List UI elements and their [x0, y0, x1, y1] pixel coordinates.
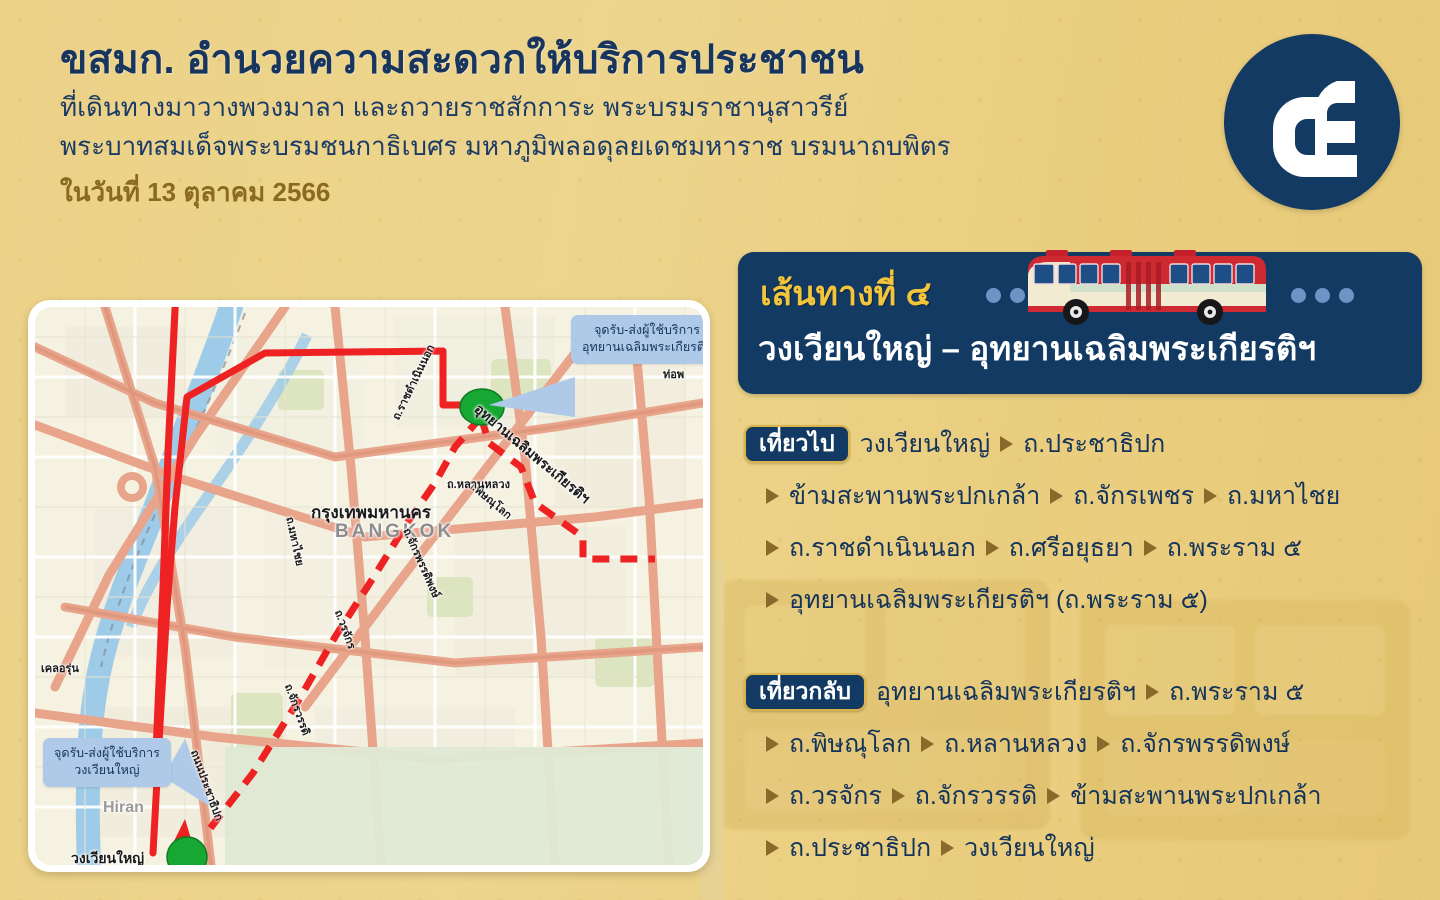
route-number: เส้นทางที่ ๔ — [760, 266, 931, 320]
map-label-wongwianyai: วงเวียนใหญ่ — [71, 848, 144, 865]
route-name: วงเวียนใหญ่ – อุทยานเฉลิมพระเกียรติฯ — [758, 322, 1406, 375]
arrow-icon — [986, 540, 999, 556]
callout-park-line1: จุดรับ-ส่งผู้ใช้บริการ — [582, 322, 703, 339]
arrow-icon — [1204, 488, 1217, 504]
outbound-stop-1: ถ.ประชาธิปก — [1023, 424, 1165, 464]
inbound-route-block: เที่ยวกลับ อุทยานเฉลิมพระเกียรติฯ ถ.พระร… — [744, 672, 1440, 880]
header-subtitle-1: ที่เดินทางมาวางพวงมาลา และถวายราชสักการะ… — [60, 89, 1180, 127]
arrow-icon — [1146, 684, 1159, 700]
dot — [1315, 288, 1330, 303]
inbound-stop-6: ถ.จักรวรรดิ — [915, 776, 1037, 816]
page-title: ขสมก. อำนวยความสะดวกให้บริการประชาชน — [60, 38, 1180, 83]
arrow-icon — [766, 592, 779, 608]
inbound-stop-4: ถ.จักรพรรดิพงษ์ — [1120, 724, 1290, 764]
bmta-logo-glyph-icon — [1253, 63, 1371, 181]
arrow-icon — [766, 540, 779, 556]
outbound-line-4: อุทยานเฉลิมพระเกียรติฯ (ถ.พระราม ๕) — [744, 580, 1440, 620]
inbound-stop-9: วงเวียนใหญ่ — [964, 828, 1095, 868]
outbound-route-block: เที่ยวไป วงเวียนใหญ่ ถ.ประชาธิปก ข้ามสะพ… — [744, 424, 1440, 632]
inbound-line-4: ถ.ประชาธิปก วงเวียนใหญ่ — [744, 828, 1440, 868]
header-subtitle-2: พระบาทสมเด็จพระบรมชนกาธิเบศร มหาภูมิพลอด… — [60, 128, 1180, 166]
arrow-icon — [766, 788, 779, 804]
inbound-badge: เที่ยวกลับ — [744, 673, 866, 711]
map-label-city-en: BANGKOK — [335, 521, 454, 543]
arrow-icon — [1047, 788, 1060, 804]
arrow-icon — [1050, 488, 1063, 504]
callout-wong-line2: วงเวียนใหญ่ — [54, 762, 160, 779]
arrow-icon — [941, 840, 954, 856]
arrow-icon — [1097, 736, 1110, 752]
inbound-line-1: เที่ยวกลับ อุทยานเฉลิมพระเกียรติฯ ถ.พระร… — [744, 672, 1440, 712]
outbound-stop-3: ถ.จักรเพชร — [1073, 476, 1194, 516]
map-label-thonburi: เคลอรุ่น — [41, 659, 79, 677]
outbound-stop-7: ถ.พระราม ๕ — [1167, 528, 1302, 568]
inbound-line-2: ถ.พิษณุโลก ถ.หลานหลวง ถ.จักรพรรดิพงษ์ — [744, 724, 1440, 764]
dot — [1339, 288, 1354, 303]
header-date: ในวันที่ 13 ตุลาคม 2566 — [60, 172, 1180, 213]
callout-park-stop: จุดรับ-ส่งผู้ใช้บริการ อุทยานเฉลิมพระเกี… — [571, 315, 703, 364]
arrow-icon — [766, 488, 779, 504]
route-map[interactable]: กรุงเทพมหานคร BANGKOK วงเวียนใหญ่ อุทยาน… — [35, 307, 703, 865]
callout-wongwianyai-stop: จุดรับ-ส่งผู้ใช้บริการ วงเวียนใหญ่ — [43, 738, 171, 787]
map-label-hiran: Hiran — [103, 799, 144, 817]
inbound-stop-5: ถ.วรจักร — [789, 776, 882, 816]
outbound-stop-5: ถ.ราชดำเนินนอก — [789, 528, 976, 568]
outbound-stop-6: ถ.ศรีอยุธยา — [1009, 528, 1134, 568]
banner-dots-right — [1291, 288, 1354, 303]
inbound-stop-3: ถ.หลานหลวง — [944, 724, 1087, 764]
arrow-icon — [766, 840, 779, 856]
callout-park-line2: อุทยานเฉลิมพระเกียรติฯ — [582, 339, 703, 356]
arrow-icon — [892, 788, 905, 804]
outbound-stop-0: วงเวียนใหญ่ — [860, 424, 991, 464]
inbound-stop-8: ถ.ประชาธิปก — [789, 828, 931, 868]
arrow-icon — [1000, 436, 1013, 452]
arrow-icon — [921, 736, 934, 752]
route-banner: เส้นทางที่ ๔ — [738, 252, 1422, 394]
dot — [1291, 288, 1306, 303]
outbound-line-2: ข้ามสะพานพระปกเกล้า ถ.จักรเพชร ถ.มหาไชย — [744, 476, 1440, 516]
outbound-badge: เที่ยวไป — [744, 425, 850, 463]
outbound-line-3: ถ.ราชดำเนินนอก ถ.ศรีอยุธยา ถ.พระราม ๕ — [744, 528, 1440, 568]
bmta-logo — [1224, 34, 1400, 210]
map-label-thanon: ท่อพ — [663, 365, 684, 383]
outbound-line-1: เที่ยวไป วงเวียนใหญ่ ถ.ประชาธิปก — [744, 424, 1440, 464]
route-map-card[interactable]: กรุงเทพมหานคร BANGKOK วงเวียนใหญ่ อุทยาน… — [28, 300, 710, 872]
outbound-stop-2: ข้ามสะพานพระปกเกล้า — [789, 476, 1040, 516]
inbound-line-3: ถ.วรจักร ถ.จักรวรรดิ ข้ามสะพานพระปกเกล้า — [744, 776, 1440, 816]
inbound-stop-7: ข้ามสะพานพระปกเกล้า — [1070, 776, 1321, 816]
map-label-lanluang: ถ.หลานหลวง — [447, 475, 510, 493]
inbound-stop-1: ถ.พระราม ๕ — [1169, 672, 1304, 712]
outbound-stop-8: อุทยานเฉลิมพระเกียรติฯ (ถ.พระราม ๕) — [789, 580, 1208, 620]
dot — [986, 288, 1001, 303]
outbound-stop-4: ถ.มหาไชย — [1227, 476, 1340, 516]
inbound-stop-0: อุทยานเฉลิมพระเกียรติฯ — [876, 672, 1136, 712]
header: ขสมก. อำนวยความสะดวกให้บริการประชาชน ที่… — [60, 38, 1180, 213]
arrow-icon — [1144, 540, 1157, 556]
inbound-stop-2: ถ.พิษณุโลก — [789, 724, 911, 764]
arrow-icon — [766, 736, 779, 752]
callout-wong-line1: จุดรับ-ส่งผู้ใช้บริการ — [54, 745, 160, 762]
